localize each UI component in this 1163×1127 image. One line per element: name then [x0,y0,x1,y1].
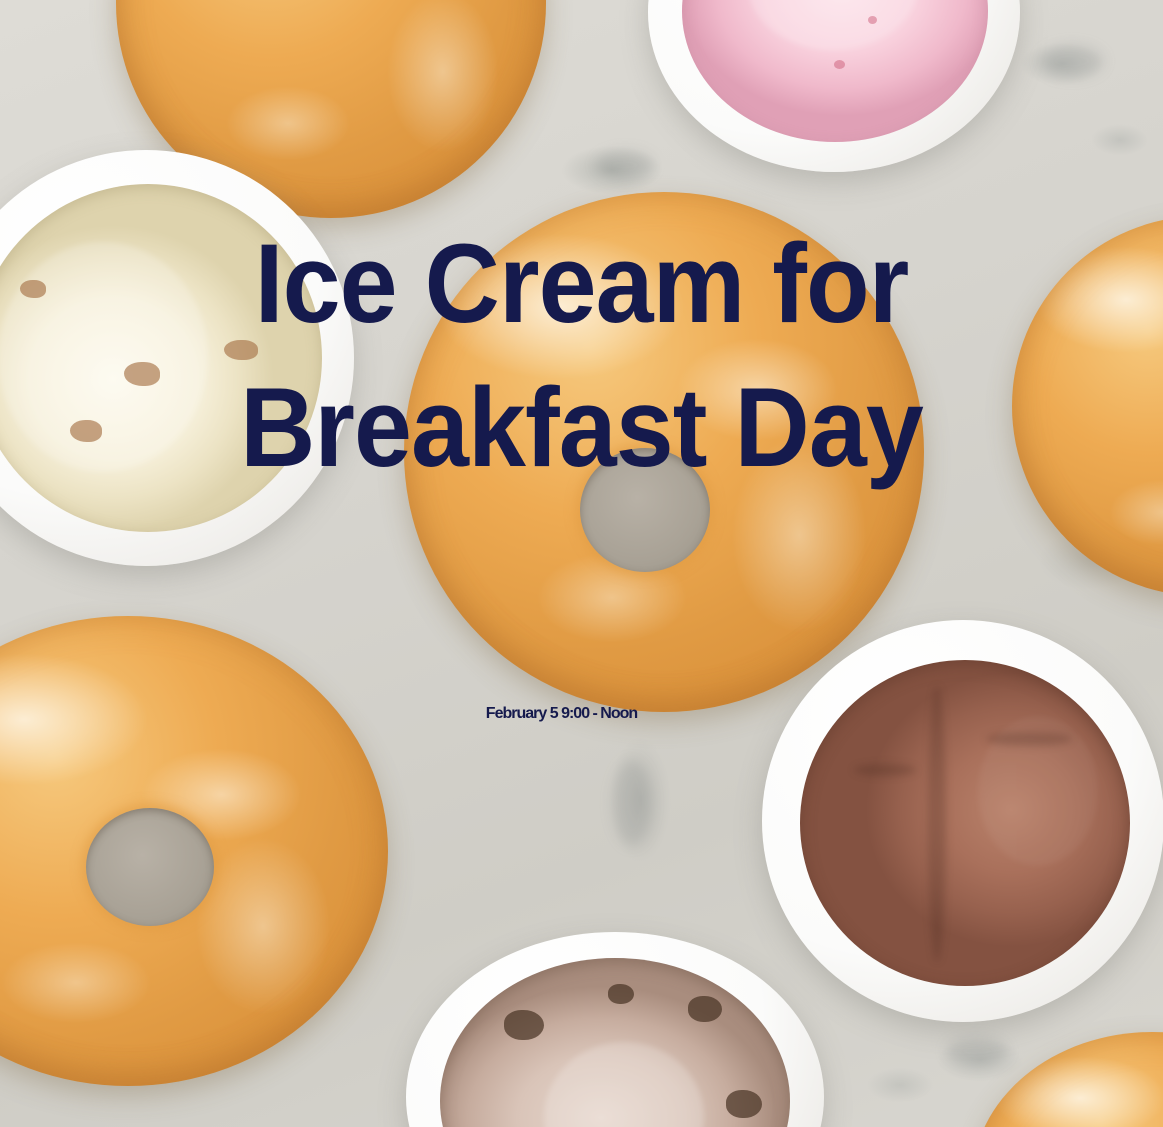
scoop-texture [986,732,1072,746]
bowl-chocolate [762,620,1163,1022]
datetime-line-2: 9:00 - Noon [561,705,637,722]
marble-vein [612,760,652,846]
datetime-block: February 5 9:00 - Noon [0,706,1163,722]
datetime-line-1: February 5 [486,705,558,722]
scoop-highlight [748,0,918,50]
cookie-chunk [688,996,722,1022]
scoop-divide-line [928,686,946,962]
strawberry-bit [868,16,877,24]
ice-cream-breakfast-flyer: Ice Cream for Breakfast Day February 5 9… [0,0,1163,1127]
marble-vein [1040,44,1104,78]
cookie-chunk [504,1010,544,1040]
headline: Ice Cream for Breakfast Day [0,228,1163,484]
cookie-chunk [608,984,634,1004]
marble-vein [596,150,654,180]
cookie-chunk [726,1090,762,1118]
scoop-highlight [544,1042,704,1127]
strawberry-bit [834,60,845,69]
scoop-strawberry [682,0,988,142]
headline-line-1: Ice Cream for [41,228,1123,340]
scoop-cookies-and-cream [440,958,790,1127]
scoop-texture [854,764,916,776]
headline-line-2: Breakfast Day [41,372,1123,484]
marble-vein [946,1036,1008,1066]
donut-hole [86,808,214,926]
